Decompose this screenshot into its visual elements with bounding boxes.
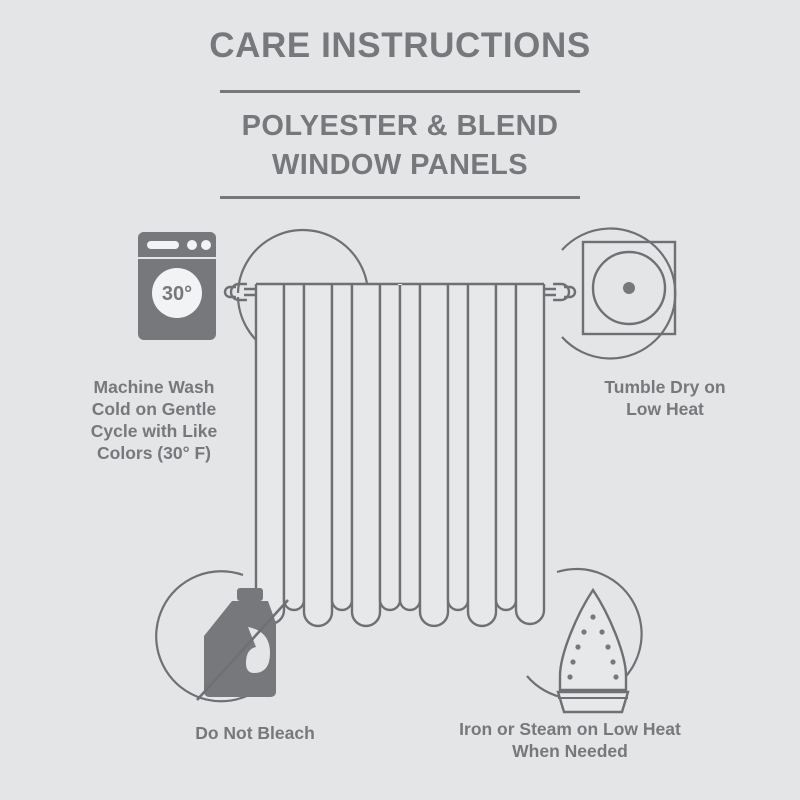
caption-iron: Iron or Steam on Low Heat When Needed <box>410 718 730 762</box>
wash-temperature-label: 30° <box>162 283 192 305</box>
caption-tumble-dry: Tumble Dry on Low Heat <box>540 376 790 420</box>
care-instructions-infographic: CARE INSTRUCTIONS POLYESTER & BLEND WIND… <box>0 0 800 800</box>
caption-do-not-bleach: Do Not Bleach <box>130 722 380 744</box>
washing-machine-icon: 30° <box>138 232 216 340</box>
caption-machine-wash: Machine Wash Cold on Gentle Cycle with L… <box>34 376 274 464</box>
iron-icon <box>558 590 628 712</box>
curtain-panel-right <box>400 284 544 626</box>
ring-tumble-dry <box>562 229 675 359</box>
curtain-panel-left <box>256 284 400 626</box>
tumble-dry-icon <box>583 242 675 334</box>
